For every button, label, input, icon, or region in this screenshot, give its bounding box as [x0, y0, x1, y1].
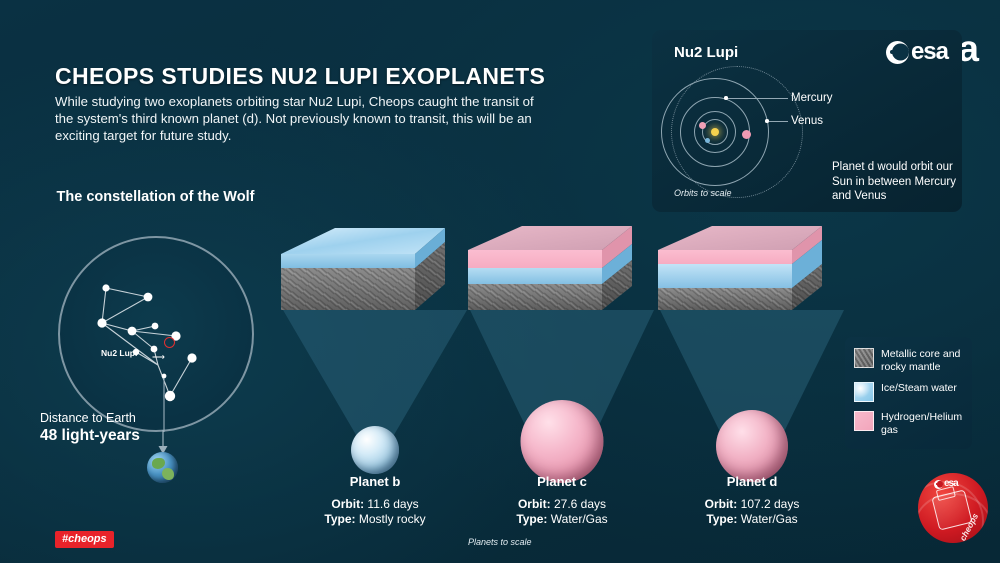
sun-dot — [711, 128, 719, 136]
orbit-label-d: Orbit: — [705, 497, 738, 511]
type-value-c: Water/Gas — [551, 512, 608, 526]
mercury-label: Mercury — [791, 92, 833, 104]
esa-roundel-icon — [934, 480, 943, 489]
type-label-d: Type: — [706, 512, 737, 526]
planet-sphere-d — [716, 410, 788, 482]
esa-wordmark: esa — [911, 40, 948, 64]
legend-item-ice: Ice/Steam water — [854, 382, 963, 402]
venus-dot — [765, 119, 769, 123]
legend-item-rock: Metallic core and rocky mantle — [854, 348, 963, 373]
planet-dot-outer-pink — [742, 130, 751, 139]
legend-swatch-ice-icon — [854, 382, 874, 402]
planet-sphere-b — [351, 426, 399, 474]
nu2-lupi-panel: Nu2 Lupi esa Mercury Venus Planet d woul… — [652, 30, 962, 212]
cheops-mission-badge: esa cheops — [918, 473, 988, 543]
constellation-stars — [58, 236, 254, 432]
orbit-label-b: Orbit: — [331, 497, 364, 511]
legend-label-rock: Metallic core and rocky mantle — [881, 348, 963, 373]
planet-dot-blue — [705, 138, 710, 143]
panel-note: Planet d would orbit our Sun in between … — [832, 160, 962, 204]
orbit-value-b: 11.6 days — [367, 497, 418, 511]
nu2-lupi-star-marker — [164, 337, 175, 348]
mercury-dot — [724, 96, 728, 100]
orbit-value-d: 107.2 days — [741, 497, 800, 511]
legend-label-ice: Ice/Steam water — [881, 382, 957, 395]
esa-logo-panel: esa — [886, 40, 948, 64]
planet-stats-d: Orbit: 107.2 days Type: Water/Gas — [642, 497, 862, 527]
type-label-b: Type: — [324, 512, 355, 526]
earth-icon — [147, 452, 178, 483]
mercury-leader-line — [728, 98, 788, 99]
legend-label-gas: Hydrogen/Helium gas — [881, 411, 963, 436]
nu2-panel-title: Nu2 Lupi — [674, 44, 738, 61]
planet-dot-inner-pink — [699, 122, 706, 129]
esa-logo-badge: esa — [934, 479, 958, 489]
orbit-value-c: 27.6 days — [554, 497, 606, 511]
nu2-lupi-pointer-icon: ⟶ — [152, 352, 165, 363]
distance-value: 48 light-years — [40, 427, 140, 445]
orbit-label-c: Orbit: — [518, 497, 551, 511]
page-subtitle: While studying two exoplanets orbiting s… — [55, 93, 555, 144]
legend-panel: Metallic core and rocky mantle Ice/Steam… — [845, 337, 972, 449]
legend-swatch-rock-icon — [854, 348, 874, 368]
type-value-b: Mostly rocky — [359, 512, 426, 526]
legend-item-gas: Hydrogen/Helium gas — [854, 411, 963, 436]
esa-wordmark: esa — [944, 479, 958, 489]
planet-name-c: Planet c — [452, 474, 672, 489]
cross-section-block-b — [275, 222, 475, 317]
venus-label: Venus — [791, 115, 823, 127]
cross-section-block-d — [652, 222, 852, 317]
planet-name-d: Planet d — [642, 474, 862, 489]
venus-leader-line — [769, 121, 788, 122]
planet-sphere-c — [521, 400, 604, 483]
cheops-hashtag: #cheops — [55, 531, 114, 548]
type-label-c: Type: — [516, 512, 547, 526]
distance-label: Distance to Earth — [40, 411, 136, 425]
planets-to-scale-caption: Planets to scale — [468, 537, 532, 547]
orbits-to-scale-caption: Orbits to scale — [674, 188, 732, 198]
nu2-lupi-star-label: Nu2 Lupi — [101, 348, 137, 358]
cross-section-block-c — [462, 222, 662, 317]
legend-swatch-gas-icon — [854, 411, 874, 431]
type-value-d: Water/Gas — [741, 512, 798, 526]
page-title: CHEOPS STUDIES NU2 LUPI EXOPLANETS — [55, 63, 545, 90]
constellation-title: The constellation of the Wolf — [48, 188, 263, 206]
planet-stats-c: Orbit: 27.6 days Type: Water/Gas — [452, 497, 672, 527]
esa-roundel-icon — [886, 41, 909, 64]
